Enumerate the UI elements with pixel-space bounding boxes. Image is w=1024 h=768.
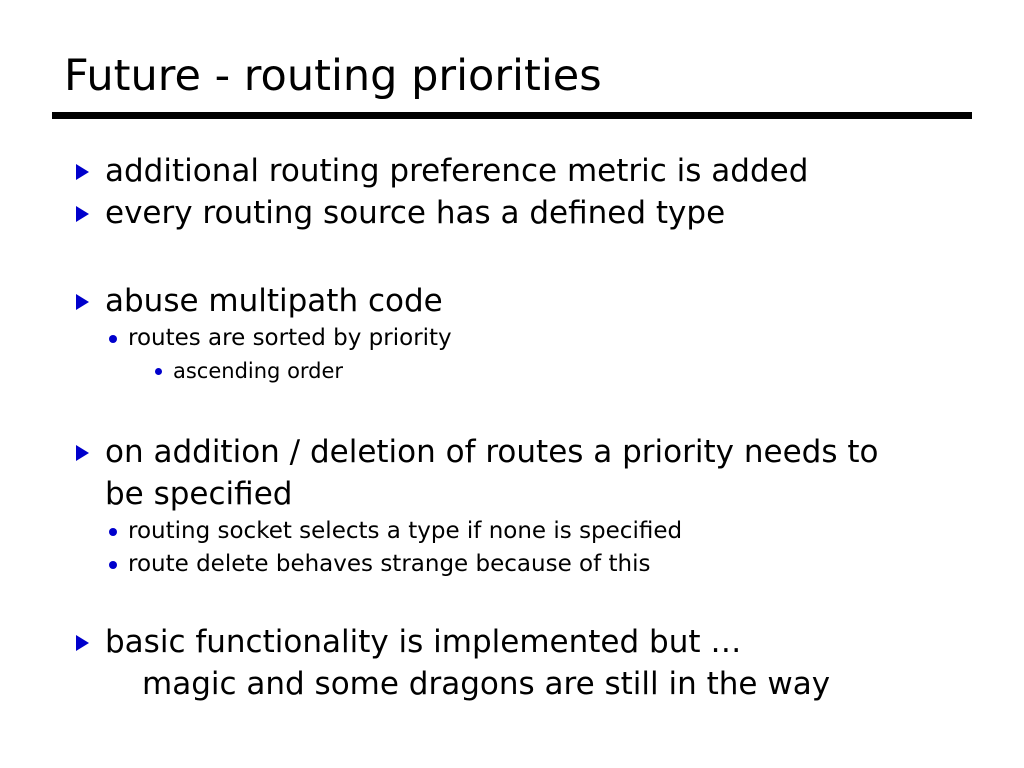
bullet-item-level1: every routing source has a defined type xyxy=(60,192,1000,234)
bullet-text: additional routing preference metric is … xyxy=(105,153,808,189)
dot-bullet-icon xyxy=(109,561,117,569)
page-title: Future - routing priorities xyxy=(52,50,972,102)
triangle-bullet-icon xyxy=(76,206,89,222)
bullet-text: abuse multipath code xyxy=(105,283,443,319)
bullet-text: on addition / deletion of routes a prior… xyxy=(105,434,878,470)
bullet-text: routing socket selects a type if none is… xyxy=(128,518,682,544)
bullet-item-level1: basic functionality is implemented but … xyxy=(60,621,1000,663)
bullet-text: route delete behaves strange because of … xyxy=(128,551,650,577)
bullet-text: magic and some dragons are still in the … xyxy=(142,666,830,702)
bullet-group-spacer xyxy=(60,581,1000,621)
dot-bullet-icon xyxy=(109,528,117,536)
bullet-item-level1: on addition / deletion of routes a prior… xyxy=(60,431,1000,473)
bullet-item-level2: route delete behaves strange because of … xyxy=(60,548,1000,581)
bullet-item-level2: routing socket selects a type if none is… xyxy=(60,515,1000,548)
bullet-text: be specified xyxy=(105,476,292,512)
bullet-group-spacer xyxy=(60,387,1000,431)
title-underline-rule xyxy=(52,112,972,119)
triangle-bullet-icon xyxy=(76,445,89,461)
bullet-text-wrap-line: be specified xyxy=(60,473,1000,515)
bullet-text: every routing source has a defined type xyxy=(105,195,725,231)
bullet-group-spacer xyxy=(60,234,1000,280)
bullet-item-level2: routes are sorted by priority xyxy=(60,322,1000,355)
slide-body: additional routing preference metric is … xyxy=(60,150,1000,705)
triangle-bullet-icon xyxy=(76,635,89,651)
bullet-item-level1: additional routing preference metric is … xyxy=(60,150,1000,192)
bullet-text: ascending order xyxy=(173,359,343,383)
bullet-text: routes are sorted by priority xyxy=(128,325,452,351)
slide-title-block: Future - routing priorities xyxy=(52,50,972,102)
dot-bullet-icon xyxy=(109,335,117,343)
dot-bullet-icon xyxy=(155,368,162,375)
bullet-continuation-line: magic and some dragons are still in the … xyxy=(60,663,1000,705)
bullet-item-level3: ascending order xyxy=(60,355,1000,387)
bullet-item-level1: abuse multipath code xyxy=(60,280,1000,322)
slide-canvas: Future - routing priorities additional r… xyxy=(0,0,1024,768)
triangle-bullet-icon xyxy=(76,294,89,310)
bullet-text: basic functionality is implemented but … xyxy=(105,624,741,660)
triangle-bullet-icon xyxy=(76,164,89,180)
